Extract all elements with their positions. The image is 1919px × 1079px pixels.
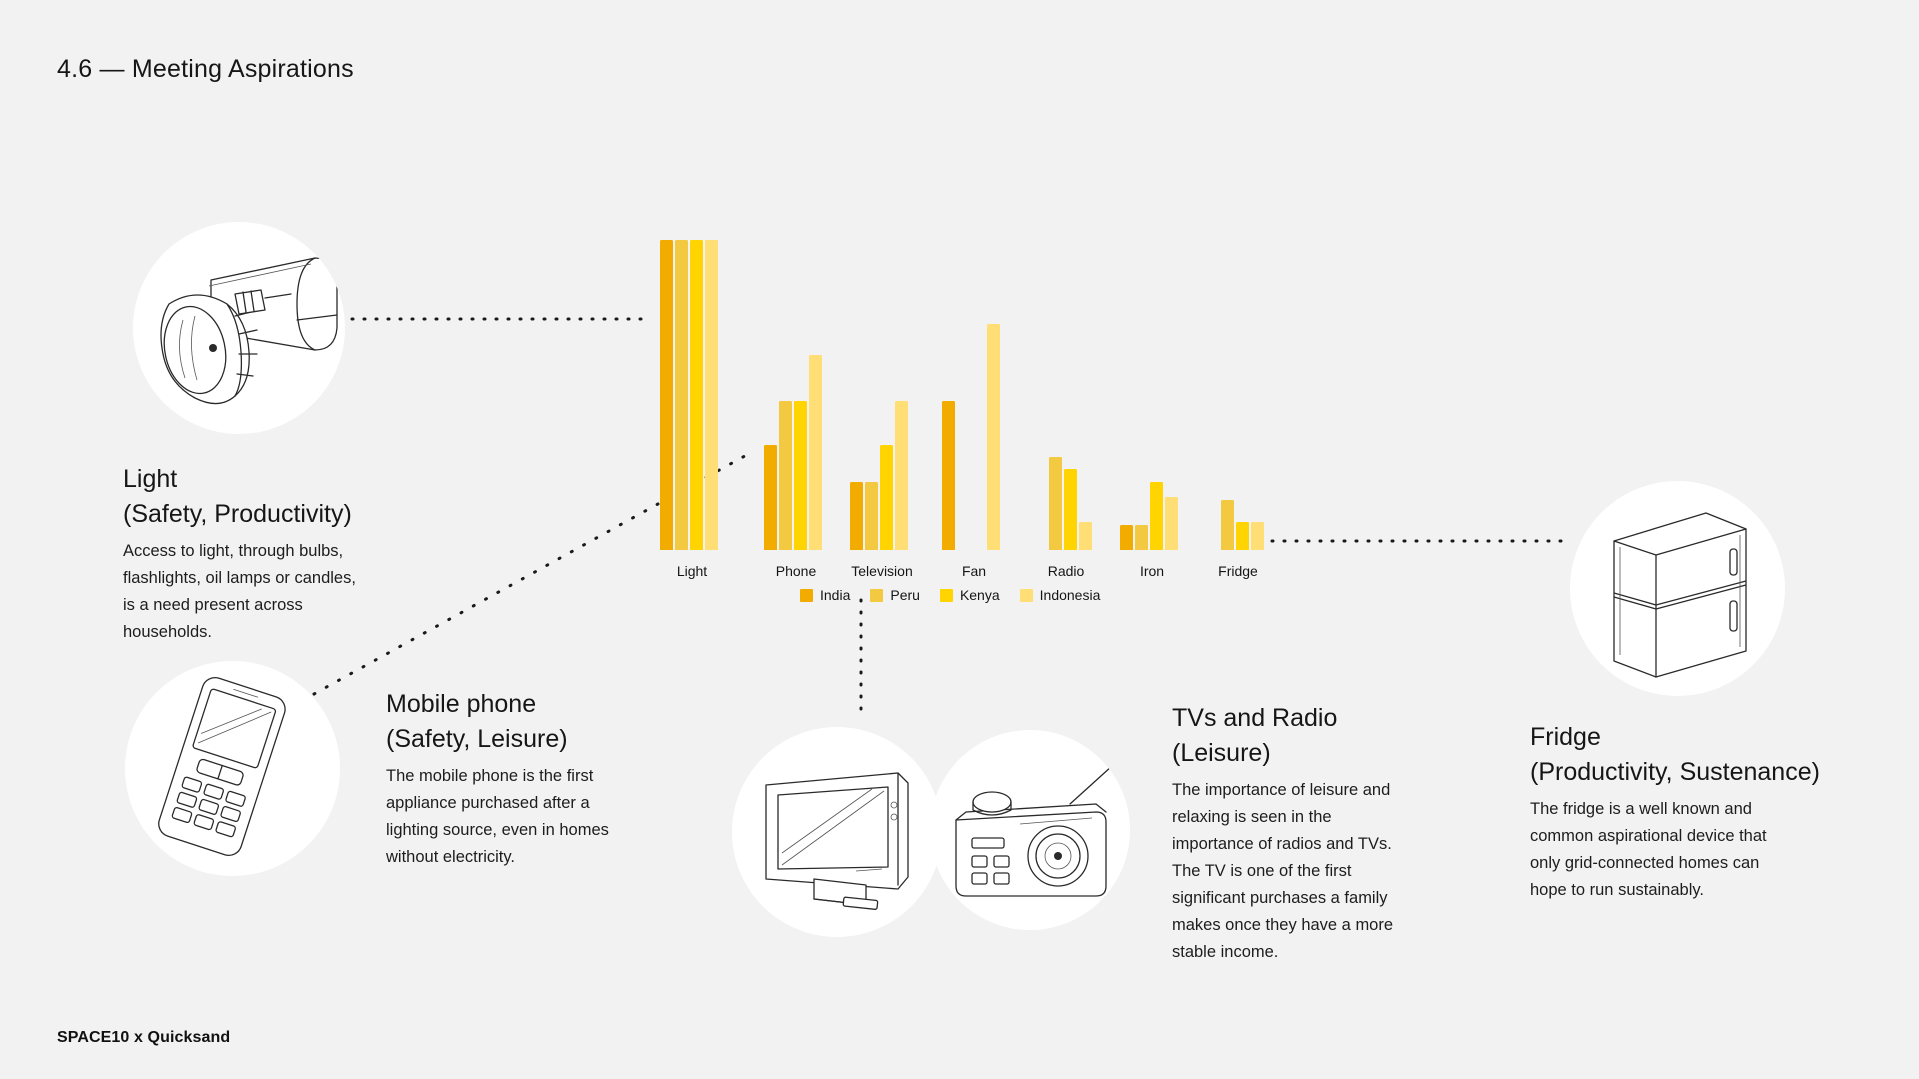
bar: [1251, 522, 1264, 550]
legend-swatch: [1020, 589, 1033, 602]
bar-group: Television: [850, 240, 914, 550]
bar-group-label: Fan: [962, 563, 986, 579]
text-block-tvs-and-radio-title: TVs and Radio (Leisure): [1172, 701, 1447, 771]
text-block-mobile-phone: Mobile phone (Safety, Leisure) The mobil…: [386, 687, 676, 871]
bar: [865, 482, 878, 550]
bar: [1064, 469, 1077, 550]
text-block-light-title: Light (Safety, Productivity): [123, 462, 413, 532]
bar: [660, 240, 673, 550]
bar: [1165, 497, 1178, 550]
bar-group: Fan: [942, 240, 1006, 550]
legend-item: India: [800, 587, 850, 603]
bar: [764, 445, 777, 550]
bar: [942, 401, 955, 550]
bar: [675, 240, 688, 550]
bar-group: Phone: [764, 240, 828, 550]
bar: [1221, 500, 1234, 550]
fridge-illustration: [1570, 481, 1785, 696]
chart-legend: IndiaPeruKenyaIndonesia: [800, 587, 1100, 603]
connector-light: [352, 316, 652, 322]
bar-group-label: Radio: [1048, 563, 1085, 579]
legend-item: Indonesia: [1020, 587, 1101, 603]
legend-swatch: [940, 589, 953, 602]
text-block-fridge-body: The fridge is a well known and common as…: [1530, 796, 1860, 904]
bar: [1049, 457, 1062, 550]
bar-group-label: Light: [677, 563, 707, 579]
bar-group: Iron: [1120, 240, 1184, 550]
bar-group-label: Fridge: [1218, 563, 1258, 579]
bar: [1135, 525, 1148, 550]
footer-credit: SPACE10 x Quicksand: [57, 1029, 230, 1047]
text-block-tvs-and-radio: TVs and Radio (Leisure) The importance o…: [1172, 701, 1447, 966]
bar: [705, 240, 718, 550]
bar-group: Fridge: [1206, 240, 1270, 550]
chart-plot-area: LightPhoneTelevisionFanRadioIronFridge: [660, 240, 1270, 550]
bar: [1236, 522, 1249, 550]
text-block-mobile-phone-body: The mobile phone is the first appliance …: [386, 763, 676, 871]
bar: [1120, 525, 1133, 550]
connector-fridge: [1272, 538, 1572, 544]
bar-group-label: Iron: [1140, 563, 1164, 579]
legend-label: Peru: [890, 587, 920, 603]
appliance-ownership-bar-chart: LightPhoneTelevisionFanRadioIronFridge: [660, 240, 1270, 550]
legend-label: India: [820, 587, 850, 603]
bar: [1079, 522, 1092, 550]
connector-television-radio: [858, 600, 864, 722]
bar-group: Radio: [1034, 240, 1098, 550]
bar: [1150, 482, 1163, 550]
bar: [987, 324, 1000, 550]
bar: [690, 240, 703, 550]
text-block-light: Light (Safety, Productivity) Access to l…: [123, 462, 413, 646]
mobile-phone-illustration: [125, 661, 340, 876]
radio-illustration: [930, 730, 1130, 930]
legend-item: Peru: [870, 587, 920, 603]
legend-label: Kenya: [960, 587, 1000, 603]
page-title: 4.6 — Meeting Aspirations: [57, 55, 354, 84]
legend-label: Indonesia: [1040, 587, 1101, 603]
legend-item: Kenya: [940, 587, 1000, 603]
bar: [794, 401, 807, 550]
bar: [850, 482, 863, 550]
text-block-mobile-phone-title: Mobile phone (Safety, Leisure): [386, 687, 676, 757]
flashlight-illustration: [133, 222, 345, 434]
bar: [880, 445, 893, 550]
bar: [809, 355, 822, 550]
legend-swatch: [870, 589, 883, 602]
bar-group-label: Phone: [776, 563, 816, 579]
legend-swatch: [800, 589, 813, 602]
text-block-fridge-title: Fridge (Productivity, Sustenance): [1530, 720, 1860, 790]
bar: [895, 401, 908, 550]
bar-group-label: Television: [851, 563, 912, 579]
bar-group: Light: [660, 240, 724, 550]
text-block-light-body: Access to light, through bulbs, flashlig…: [123, 538, 413, 646]
bar: [779, 401, 792, 550]
text-block-tvs-and-radio-body: The importance of leisure and relaxing i…: [1172, 777, 1447, 966]
text-block-fridge: Fridge (Productivity, Sustenance) The fr…: [1530, 720, 1860, 904]
television-illustration: [732, 727, 942, 937]
